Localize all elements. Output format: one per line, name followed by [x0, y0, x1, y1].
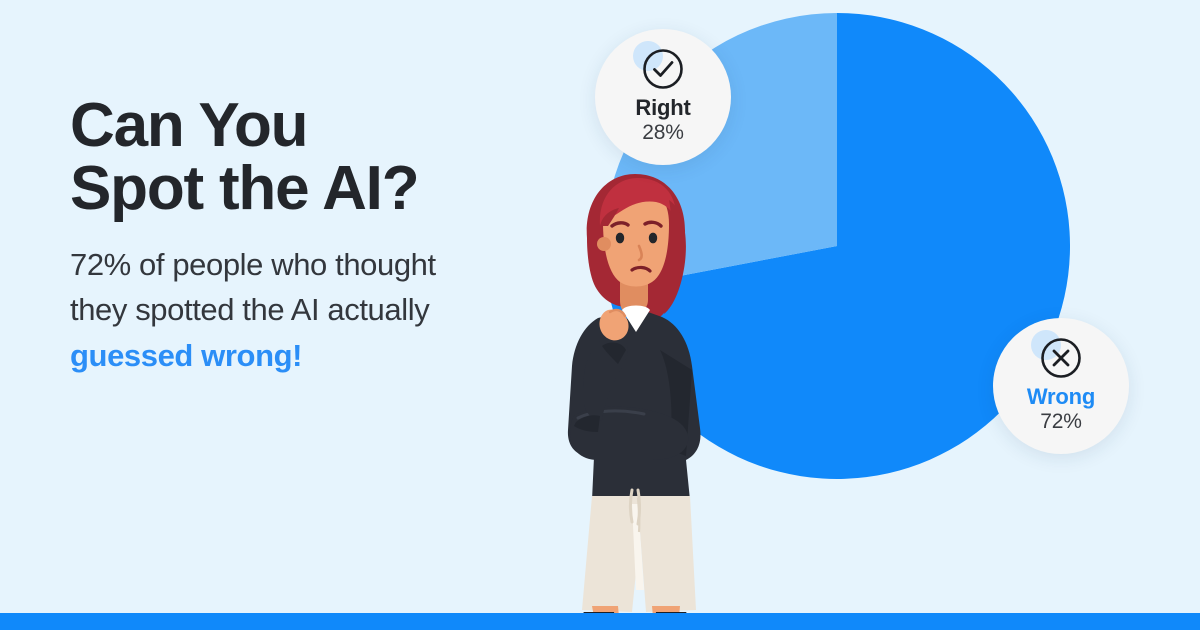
subheadline: 72% of people who thought they spotted t… [70, 242, 550, 379]
bottom-accent-bar [0, 613, 1200, 630]
subheadline-line-2: they spotted the AI actually [70, 292, 429, 327]
thinking-woman-illustration [540, 160, 730, 630]
subheadline-line-1: 72% of people who thought [70, 247, 436, 282]
badge-value-wrong: 72% [1040, 408, 1081, 436]
ear [597, 237, 611, 251]
badge-value-right: 28% [642, 119, 683, 147]
headline-block: Can You Spot the AI? 72% of people who t… [70, 96, 550, 378]
eye-right [649, 233, 657, 244]
headline-line-2: Spot the AI? [70, 159, 550, 220]
check-circle-icon [641, 47, 685, 91]
stat-badge-wrong: Wrong 72% [993, 318, 1129, 454]
drawstring-right [638, 490, 640, 524]
badge-icon-wrap-right [641, 47, 685, 91]
eye-left [616, 233, 624, 244]
x-circle-icon [1039, 336, 1083, 380]
drawstring-left [631, 490, 633, 522]
subheadline-accent: guessed wrong! [70, 338, 302, 373]
infographic-canvas: Can You Spot the AI? 72% of people who t… [0, 0, 1200, 630]
badge-icon-wrap-wrong [1039, 336, 1083, 380]
headline-line-1: Can You [70, 91, 307, 160]
stat-badge-right: Right 28% [595, 29, 731, 165]
badge-label-wrong: Wrong [1027, 385, 1095, 408]
badge-label-right: Right [635, 96, 690, 119]
page-title: Can You Spot the AI? [70, 96, 550, 220]
